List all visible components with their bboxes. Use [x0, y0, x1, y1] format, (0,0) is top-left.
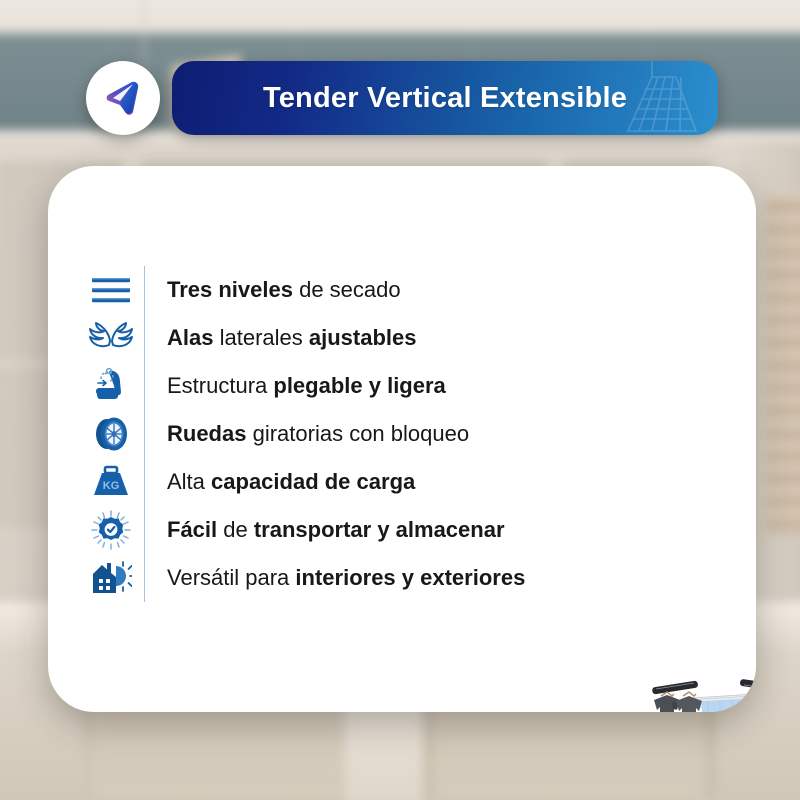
feature-row: Ruedas giratorias con bloqueo	[78, 410, 618, 458]
feature-bold-2: ajustables	[309, 325, 417, 350]
brand-arrow-logo	[100, 75, 146, 121]
feature-plain-1: Estructura	[167, 373, 273, 398]
feature-bold-1: Ruedas	[167, 421, 246, 446]
feature-bold-2: interiores y exteriores	[295, 565, 525, 590]
feature-plain-1: giratorias con bloqueo	[246, 421, 469, 446]
clothes-drying-rack-photo	[636, 658, 756, 712]
brand-logo-badge[interactable]	[86, 61, 160, 135]
feature-text: Ruedas giratorias con bloqueo	[145, 421, 469, 446]
wings-icon	[78, 321, 144, 355]
feature-text: Alas laterales ajustables	[145, 325, 416, 350]
feature-bold-1: Fácil	[167, 517, 217, 542]
feature-row: Versátil para interiores y exteriores	[78, 554, 618, 602]
feature-bold-2: capacidad de carga	[211, 469, 415, 494]
house-sun-icon	[78, 560, 144, 596]
content-card: Tres niveles de secado Alas laterales aj…	[48, 166, 756, 712]
bg-ceiling	[0, 0, 800, 37]
feature-bold-2: transportar y almacenar	[254, 517, 505, 542]
feature-bold-1: Alas	[167, 325, 213, 350]
page-title: Tender Vertical Extensible	[263, 82, 627, 115]
feature-row: Tres niveles de secado	[78, 266, 618, 314]
feature-row: KG Alta capacidad de carga	[78, 458, 618, 506]
feature-plain-1: laterales	[213, 325, 308, 350]
bg-books	[767, 194, 800, 534]
feature-row: Alas laterales ajustables	[78, 314, 618, 362]
feature-plain-1: Alta	[167, 469, 211, 494]
feature-plain-1: de secado	[293, 277, 401, 302]
feature-bold-2: plegable y ligera	[273, 373, 445, 398]
feature-text: Tres niveles de secado	[145, 277, 401, 302]
feature-text: Alta capacidad de carga	[145, 469, 415, 494]
foldable-seat-icon	[78, 368, 144, 404]
svg-text:KG: KG	[103, 480, 120, 492]
three-levels-icon	[78, 275, 144, 305]
feature-bold-1: Tres niveles	[167, 277, 293, 302]
header-banner: Tender Vertical Extensible	[172, 61, 718, 135]
gear-check-icon	[78, 510, 144, 550]
infographic-canvas: Tender Vertical Extensible	[0, 0, 800, 800]
feature-text: Fácil de transportar y almacenar	[145, 517, 505, 542]
feature-plain-1: Versátil para	[167, 565, 295, 590]
wheel-icon	[78, 415, 144, 453]
feature-text: Estructura plegable y ligera	[145, 373, 446, 398]
feature-row: Estructura plegable y ligera	[78, 362, 618, 410]
feature-text: Versátil para interiores y exteriores	[145, 565, 525, 590]
kg-weight-icon: KG	[78, 464, 144, 500]
feature-list: Tres niveles de secado Alas laterales aj…	[78, 266, 618, 602]
feature-row: Fácil de transportar y almacenar	[78, 506, 618, 554]
feature-plain-1: de	[217, 517, 254, 542]
